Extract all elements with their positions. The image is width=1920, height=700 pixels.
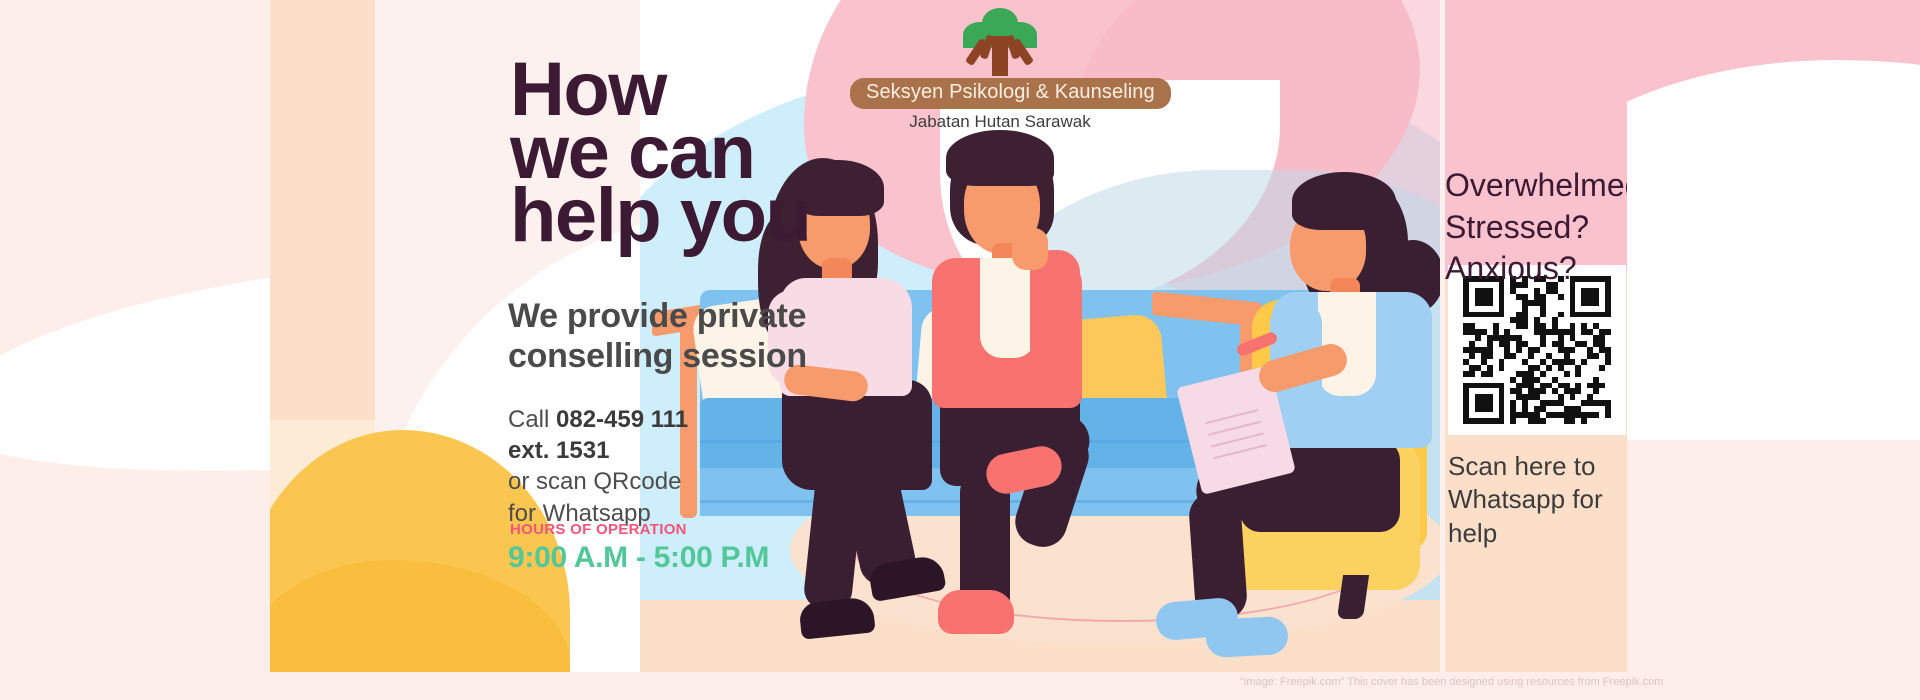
callout-questions: Overwhelmed? Stressed? Anxious? [1445,165,1627,290]
counsellor-shoe-2 [1205,616,1289,658]
client-mid-shoe-2 [938,590,1014,634]
qr-instruction-line1: or scan QRcode [508,468,681,495]
phone-extension: ext. 1531 [508,437,609,464]
qr-code[interactable] [1448,265,1626,435]
qr-caption: Scan here to Whatsapp for help [1448,450,1627,550]
client-mid-jacket-opening [980,258,1036,358]
client-left-shoe-2 [798,596,875,640]
logo-title: Seksyen Psikologi & Kaunseling [850,78,1171,109]
qr-code-icon [1463,276,1611,424]
hours-label: HOURS OF OPERATION [510,521,687,538]
logo-subtitle: Jabatan Hutan Sarawak [850,112,1150,132]
counsellor-hair-front [1292,172,1396,230]
hours-value: 9:00 A.M - 5:00 P.M [508,541,769,575]
phone-number[interactable]: 082-459 111 [556,406,688,433]
poster: Scan here to Whatsapp for help How we ca… [270,0,1627,672]
tree-logo-icon [964,8,1036,76]
contact-block: Call 082-459 111 ext. 1531 or scan QRcod… [508,404,868,529]
subheading: We provide private conselling session [508,296,948,376]
call-prefix: Call [508,406,556,433]
poster-canvas: Scan here to Whatsapp for help How we ca… [0,0,1920,700]
credit-text: "image: Freepik.com" This cover has been… [1240,676,1663,688]
organisation-logo: Seksyen Psikologi & Kaunseling Jabatan H… [850,8,1150,132]
